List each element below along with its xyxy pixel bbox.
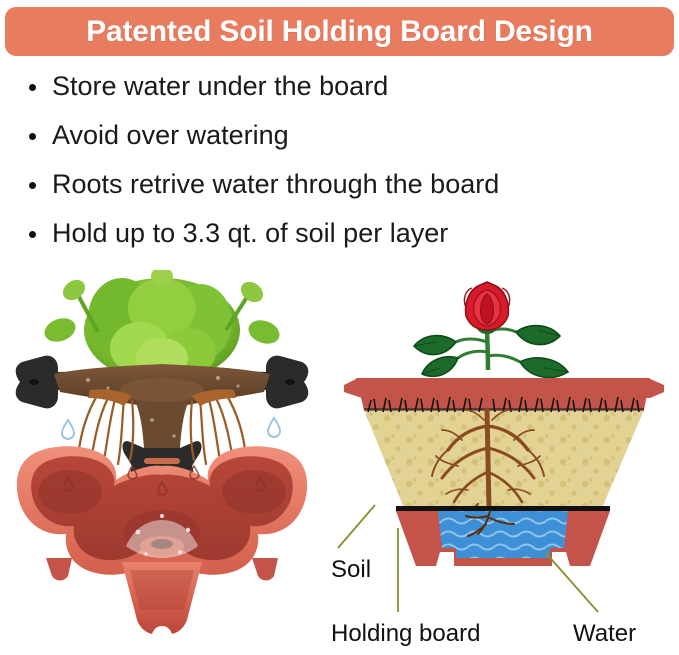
list-item: Roots retrive water through the board: [0, 160, 679, 209]
list-item-label: Avoid over watering: [52, 122, 289, 149]
stackable-planter-photo: [12, 270, 342, 640]
page-title: Patented Soil Holding Board Design: [5, 7, 674, 56]
list-item-label: Hold up to 3.3 qt. of soil per layer: [52, 220, 448, 247]
rose-bloom: [464, 282, 509, 330]
pot-cross-section-diagram: [338, 280, 676, 580]
planter-bottom-tier: [122, 562, 202, 634]
header-banner: Patented Soil Holding Board Design: [5, 7, 674, 56]
water-reservoir: [396, 511, 610, 566]
holding-board-layer: [396, 506, 610, 511]
rose-plant: [414, 282, 568, 377]
list-item: Hold up to 3.3 qt. of soil per layer: [0, 209, 679, 258]
list-item: Avoid over watering: [0, 111, 679, 160]
bullet-dot-icon: [29, 182, 36, 189]
list-item-label: Store water under the board: [52, 73, 388, 100]
bullet-dot-icon: [29, 231, 36, 238]
soil-holding-board-top: [16, 356, 309, 448]
list-item: Store water under the board: [0, 62, 679, 111]
artwork-area: [0, 262, 679, 655]
bullet-dot-icon: [29, 84, 36, 91]
list-item-label: Roots retrive water through the board: [52, 171, 499, 198]
callout-label-holding-board: Holding board: [331, 620, 480, 648]
callout-label-soil: Soil: [331, 556, 371, 584]
product-infographic: Patented Soil Holding Board Design Store…: [0, 0, 679, 655]
feature-bullet-list: Store water under the board Avoid over w…: [0, 62, 679, 258]
bullet-dot-icon: [29, 133, 36, 140]
callout-label-water: Water: [573, 620, 636, 648]
